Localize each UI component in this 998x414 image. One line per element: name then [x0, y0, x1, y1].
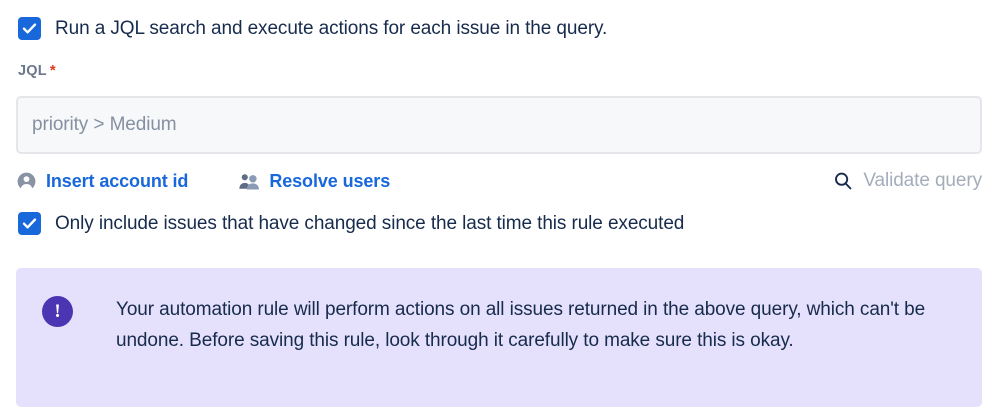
insert-account-id-label: Insert account id: [46, 171, 188, 192]
only-changed-issues-checkbox-row[interactable]: Only include issues that have changed si…: [18, 211, 684, 236]
required-asterisk: *: [50, 62, 56, 79]
warning-banner-message: Your automation rule will perform action…: [116, 294, 952, 356]
jql-field-label: JQL*: [18, 62, 56, 79]
jql-input[interactable]: priority > Medium: [16, 96, 982, 154]
validate-query-label: Validate query: [863, 170, 982, 192]
jql-actions-row: Insert account id Resolve users Vali: [16, 166, 982, 196]
warning-exclamation-icon: !: [42, 296, 73, 327]
person-circle-icon: [16, 171, 37, 192]
jql-label-text: JQL: [18, 63, 47, 79]
resolve-users-label: Resolve users: [269, 171, 390, 192]
only-changed-issues-checkbox[interactable]: [18, 212, 41, 235]
exclamation-glyph: !: [42, 296, 73, 327]
only-changed-issues-label: Only include issues that have changed si…: [55, 211, 684, 236]
insert-account-id-link[interactable]: Insert account id: [16, 171, 188, 192]
run-jql-search-label: Run a JQL search and execute actions for…: [55, 16, 607, 41]
warning-banner: ! Your automation rule will perform acti…: [16, 268, 982, 407]
run-jql-search-checkbox[interactable]: [18, 17, 41, 40]
checkmark-icon: [21, 215, 38, 232]
people-icon: [238, 172, 260, 191]
search-icon: [833, 171, 853, 191]
jql-input-placeholder: priority > Medium: [32, 114, 177, 136]
run-jql-search-checkbox-row[interactable]: Run a JQL search and execute actions for…: [18, 16, 607, 41]
checkmark-icon: [21, 20, 38, 37]
jql-trigger-configuration-panel: Run a JQL search and execute actions for…: [0, 0, 998, 414]
validate-query-button[interactable]: Validate query: [833, 170, 982, 192]
resolve-users-link[interactable]: Resolve users: [238, 171, 390, 192]
